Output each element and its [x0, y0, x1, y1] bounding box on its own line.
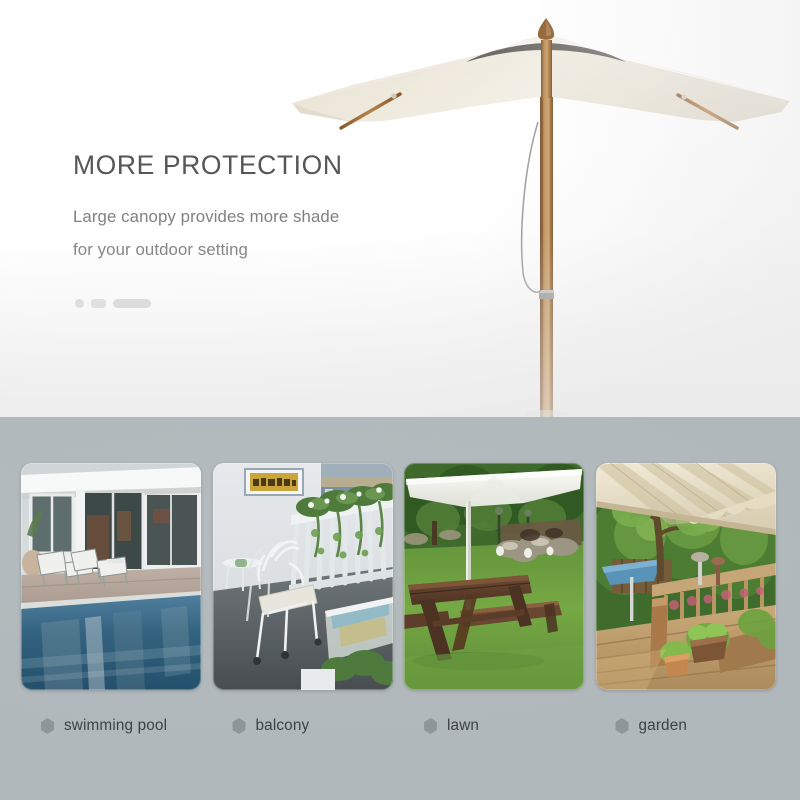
hexagon-bullet-icon	[232, 718, 247, 734]
thumbnail-garden[interactable]	[596, 463, 776, 690]
canopy-right-panel	[546, 40, 790, 122]
pole-joint	[539, 290, 554, 299]
canopy-facet-right	[546, 40, 790, 101]
pole-upper	[541, 40, 552, 98]
pager-square-icon	[91, 299, 106, 308]
scenario-thumbnail-row	[21, 463, 781, 690]
hero-subtitle-line-1: Large canopy provides more shade	[73, 201, 403, 234]
hero-subtitle-line-2: for your outdoor setting	[73, 234, 403, 267]
caption-label: balcony	[256, 717, 310, 735]
caption-label: garden	[639, 717, 688, 735]
thumbnail-balcony[interactable]	[213, 463, 393, 690]
scenario-caption-row: swimming pool balcony lawn garden	[21, 717, 781, 735]
caption-label: swimming pool	[64, 717, 167, 735]
caption-lawn: lawn	[404, 717, 584, 735]
caption-balcony: balcony	[213, 717, 393, 735]
product-feature-panel: MORE PROTECTION Large canopy provides mo…	[0, 0, 800, 800]
caption-swimming-pool: swimming pool	[21, 717, 201, 735]
hero-copy: MORE PROTECTION Large canopy provides mo…	[73, 150, 403, 267]
hero-subtitle: Large canopy provides more shade for you…	[73, 201, 403, 267]
thumbnail-lawn[interactable]	[404, 463, 584, 690]
pull-cord	[522, 122, 541, 292]
umbrella-finial	[538, 18, 554, 40]
hero-section: MORE PROTECTION Large canopy provides mo…	[0, 0, 800, 417]
caption-garden: garden	[596, 717, 776, 735]
umbrella-pole	[540, 95, 553, 417]
canopy-ribs	[341, 42, 737, 128]
canopy-facet-left	[292, 40, 546, 103]
rib-hub-left	[391, 93, 396, 98]
canopy-crown	[498, 35, 596, 53]
hexagon-bullet-icon	[40, 718, 55, 734]
canopy-left-panel	[292, 40, 546, 122]
thumbnail-swimming-pool[interactable]	[21, 463, 201, 690]
page-title: MORE PROTECTION	[73, 150, 403, 181]
hexagon-bullet-icon	[615, 718, 630, 734]
pager-decoration	[75, 299, 151, 308]
usage-scenarios-panel: swimming pool balcony lawn garden	[0, 417, 800, 800]
caption-label: lawn	[447, 717, 479, 735]
pager-pill-icon	[113, 299, 151, 308]
rib-hub-right	[681, 94, 686, 99]
pager-dot-icon	[75, 299, 84, 308]
hexagon-bullet-icon	[423, 718, 438, 734]
